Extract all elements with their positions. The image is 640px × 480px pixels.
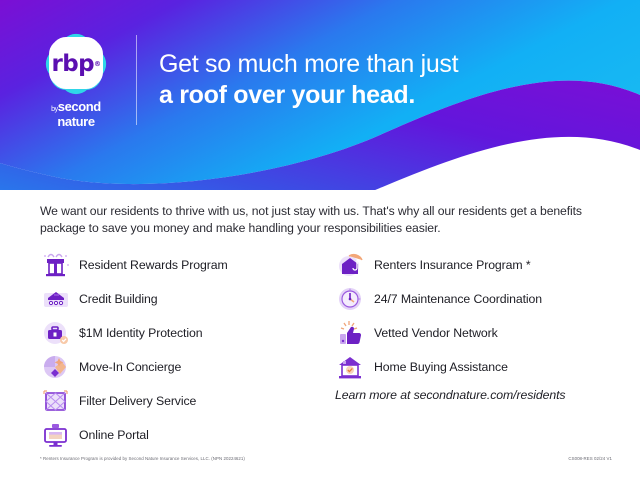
benefit-filter-delivery-service[interactable]: Filter Delivery Service <box>40 384 330 418</box>
benefit-label: Filter Delivery Service <box>79 394 196 408</box>
headline-line-1: Get so much more than just <box>159 49 458 80</box>
header-banner: rbp® bysecond nature Get so much more th… <box>0 0 640 190</box>
benefit-label: Resident Rewards Program <box>79 258 228 272</box>
monitor-icon <box>40 420 74 450</box>
benefit-label: Home Buying Assistance <box>374 360 508 374</box>
document-code: CS008-RES 02/24 V1 <box>568 456 612 461</box>
benefit-label: Renters Insurance Program * <box>374 258 531 272</box>
intro-paragraph: We want our residents to thrive with us,… <box>40 203 600 237</box>
benefit-vetted-vendor-network[interactable]: Vetted Vendor Network <box>335 316 610 350</box>
thumbs-up-icon <box>335 318 369 348</box>
logo-nature-text: nature <box>57 114 94 129</box>
benefits-column-left: Resident Rewards Program Credit Building <box>40 248 330 452</box>
footnote-disclaimer: * Renters Insurance Program is provided … <box>40 456 245 461</box>
benefit-maintenance-coordination[interactable]: 24/7 Maintenance Coordination <box>335 282 610 316</box>
benefit-identity-protection[interactable]: $1M Identity Protection <box>40 316 330 350</box>
logo-divider <box>136 35 137 125</box>
credit-bank-icon <box>40 284 74 314</box>
benefit-renters-insurance-program[interactable]: Renters Insurance Program * <box>335 248 610 282</box>
benefit-label: 24/7 Maintenance Coordination <box>374 292 542 306</box>
benefit-label: Online Portal <box>79 428 149 442</box>
logo-subbrand: bysecond nature <box>51 101 101 128</box>
concierge-diamond-icon <box>40 352 74 382</box>
benefit-label: Move-In Concierge <box>79 360 181 374</box>
benefit-credit-building[interactable]: Credit Building <box>40 282 330 316</box>
logo-by-text: by <box>51 106 58 113</box>
benefit-label: $1M Identity Protection <box>79 326 202 340</box>
clock-icon <box>335 284 369 314</box>
brand-logo: rbp® bysecond nature <box>22 32 130 128</box>
logo-registered-mark: ® <box>94 60 100 68</box>
benefit-label: Credit Building <box>79 292 157 306</box>
benefit-online-portal[interactable]: Online Portal <box>40 418 330 452</box>
benefits-column-right: Renters Insurance Program * 24/7 Mainten… <box>335 248 610 384</box>
headline: Get so much more than just a roof over y… <box>159 49 458 111</box>
air-filter-icon <box>40 386 74 416</box>
benefit-resident-rewards-program[interactable]: Resident Rewards Program <box>40 248 330 282</box>
benefit-label: Vetted Vendor Network <box>374 326 498 340</box>
benefit-move-in-concierge[interactable]: Move-In Concierge <box>40 350 330 384</box>
gift-icon <box>40 250 74 280</box>
logo-wordmark: rbp® <box>44 32 108 96</box>
umbrella-house-icon <box>335 250 369 280</box>
logo-wordmark-text: rbp <box>52 51 94 77</box>
learn-more-text[interactable]: Learn more at secondnature.com/residents <box>335 388 625 402</box>
headline-line-2: a roof over your head. <box>159 80 458 111</box>
logo-second-text: second <box>58 99 101 114</box>
benefit-home-buying-assistance[interactable]: Home Buying Assistance <box>335 350 610 384</box>
briefcase-shield-icon <box>40 318 74 348</box>
rbp-logo-mark: rbp® <box>44 32 108 96</box>
house-check-icon <box>335 352 369 382</box>
